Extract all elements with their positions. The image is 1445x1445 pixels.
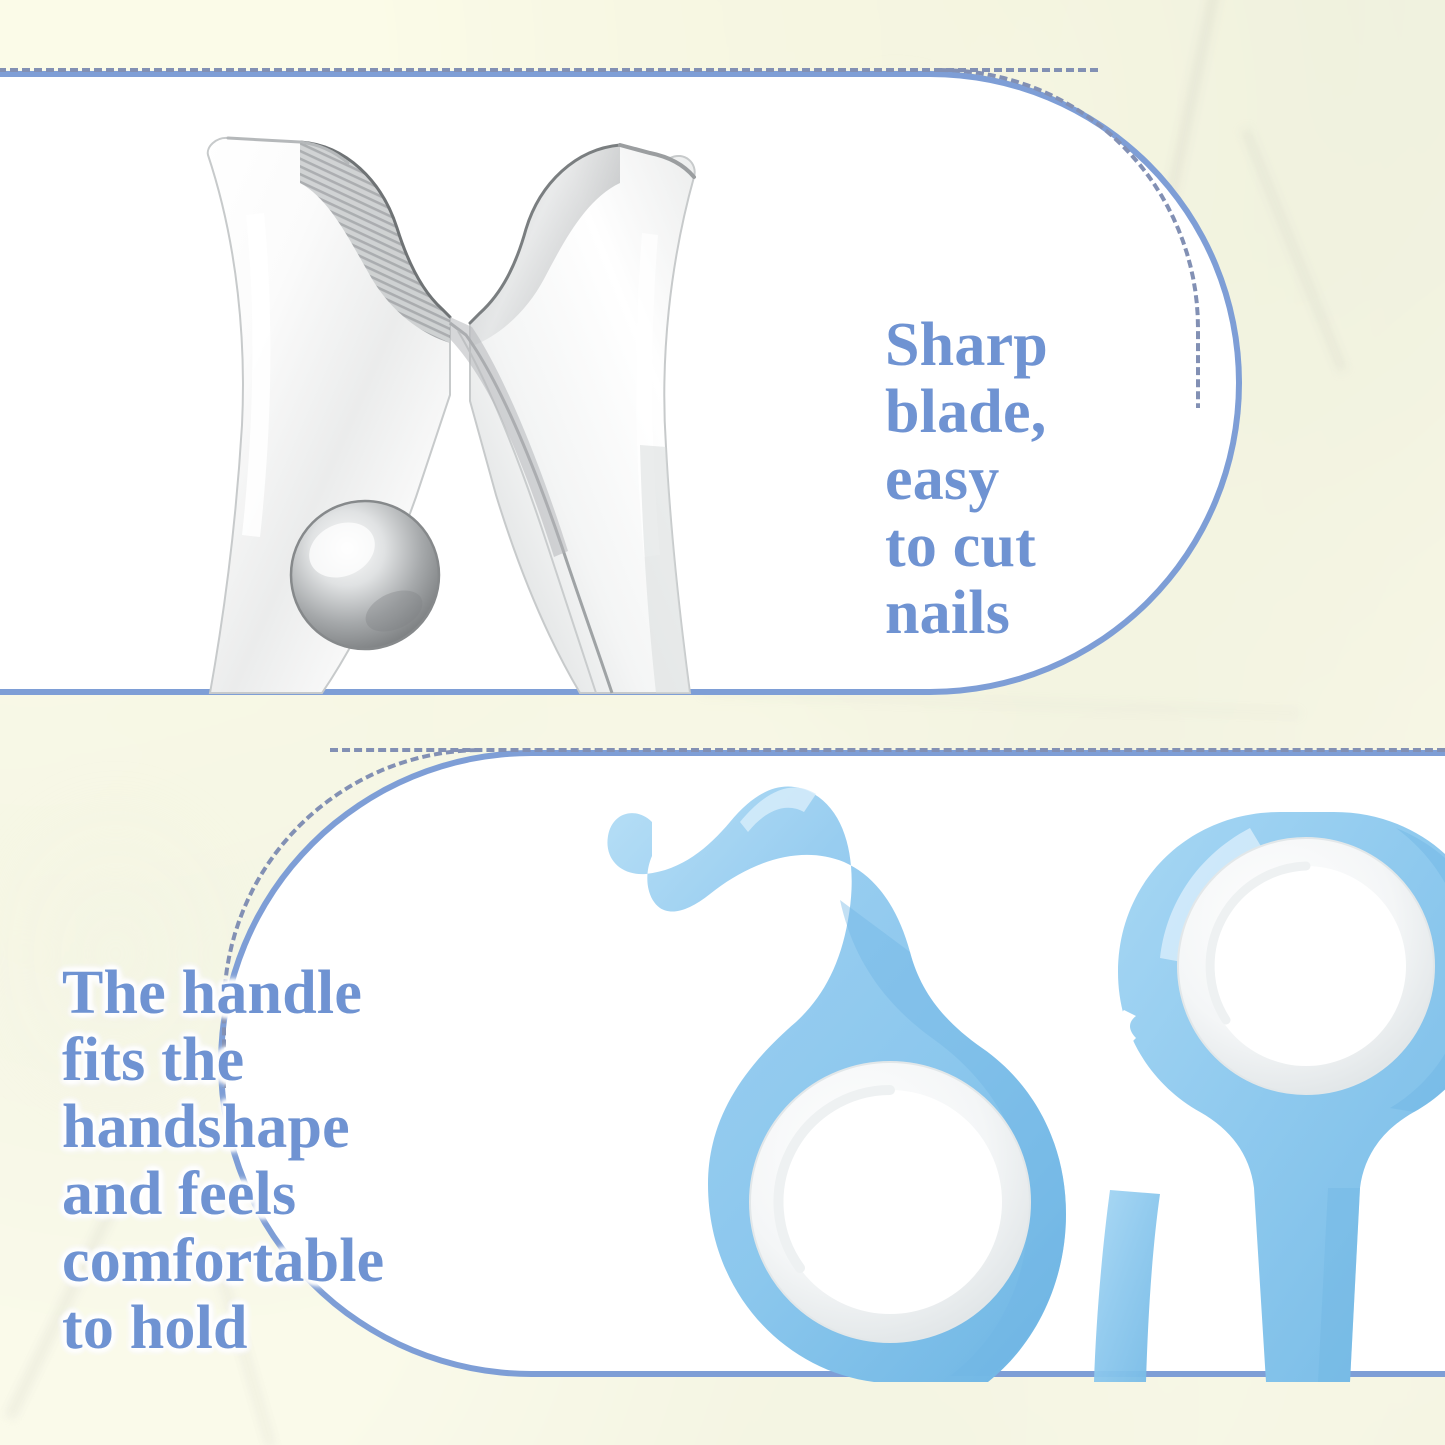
top-card-dashed-edge	[0, 68, 1098, 72]
handle-rings-icon	[590, 770, 1445, 1390]
bottom-card-dashed-edge	[330, 748, 1445, 752]
bottom-panel-caption: The handle fits the handshape and feels …	[62, 960, 384, 1362]
top-panel-caption: Sharp blade, easy to cut nails	[885, 312, 1048, 647]
infographic-canvas: Sharp blade, easy to cut nails	[0, 0, 1445, 1445]
nail-clipper-blade-icon	[150, 95, 740, 695]
